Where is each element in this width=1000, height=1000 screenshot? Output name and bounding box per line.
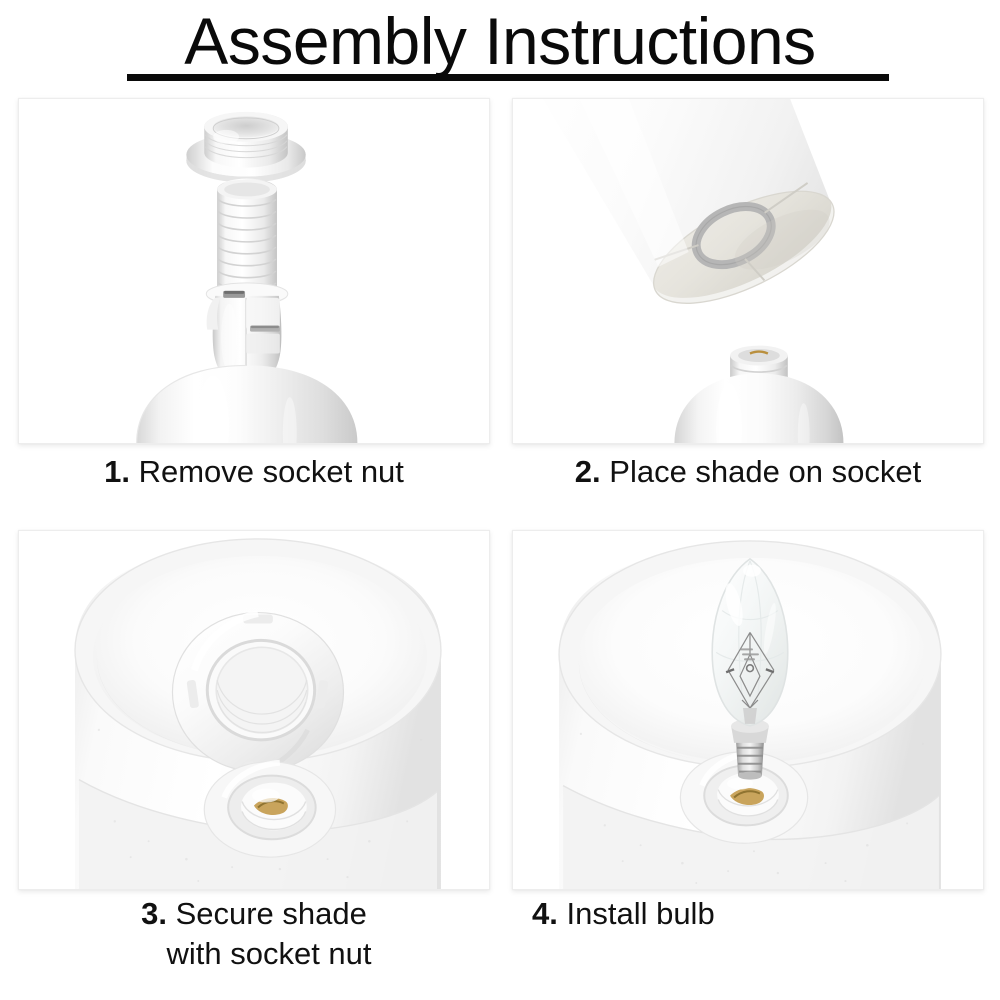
lamp-socket-part: [206, 179, 288, 390]
step-1-illustration: [19, 99, 489, 443]
page-title-block: Assembly Instructions: [0, 6, 1000, 76]
step-3-illustration: [19, 531, 489, 889]
step-4-caption-text: Install bulb: [566, 896, 714, 931]
step-3-caption-text-line-1: Secure shade: [176, 896, 367, 931]
step-3-number: 3.: [141, 896, 167, 931]
step-2-caption-text: Place shade on socket: [609, 454, 921, 489]
step-3-caption: 3. Secure shadewith socket nut: [18, 894, 490, 974]
step-3-photo-panel: [18, 530, 490, 890]
step-4-caption: 4. Install bulb: [532, 894, 984, 934]
step-2-illustration: [513, 99, 983, 443]
step-1-caption-text: Remove socket nut: [139, 454, 404, 489]
lamp-socket-part: [204, 762, 335, 857]
title-underline-rule: [127, 74, 889, 81]
step-2-photo-panel: [512, 98, 984, 444]
page-title: Assembly Instructions: [0, 6, 1000, 76]
step-1-number: 1.: [104, 454, 130, 489]
socket-nut-part: [172, 613, 343, 772]
infographic-sheet: Assembly Instructions: [0, 0, 1000, 1000]
step-4-illustration: [513, 531, 983, 889]
step-2-caption: 2. Place shade on socket: [512, 452, 984, 492]
step-1-photo-panel: [18, 98, 490, 444]
step-4-number: 4.: [532, 896, 558, 931]
step-1-caption: 1. Remove socket nut: [18, 452, 490, 492]
step-2-number: 2.: [575, 454, 601, 489]
step-3-caption-text-line-2: with socket nut: [18, 934, 490, 974]
step-4-photo-panel: [512, 530, 984, 890]
